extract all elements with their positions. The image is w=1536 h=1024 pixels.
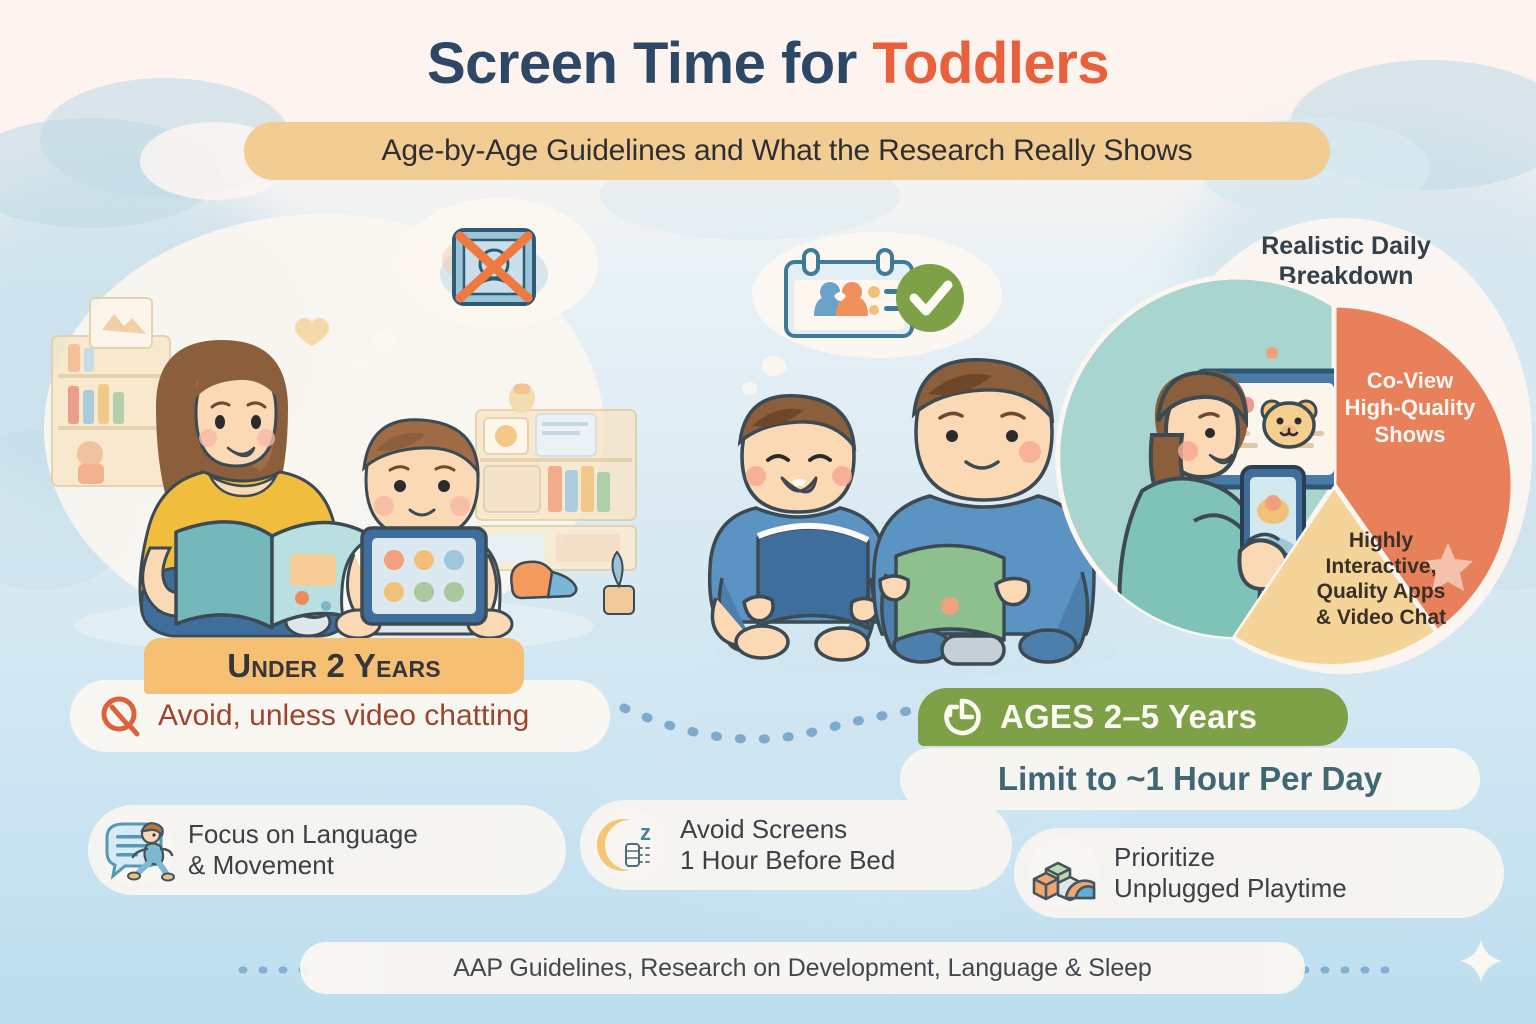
ages25-recommendation-text: Limit to ~1 Hour Per Day — [998, 760, 1382, 798]
tip-text-line: Unplugged Playtime — [1114, 873, 1347, 904]
pie-label-interactive-apps: Highly Interactive, Quality Apps & Video… — [1286, 528, 1476, 630]
page-title: Screen Time for Toddlers — [0, 30, 1536, 97]
tip-text-line: 1 Hour Before Bed — [680, 845, 895, 876]
crossed-out-tablet-icon — [430, 222, 558, 314]
thought-bubble-dot — [352, 358, 368, 372]
speech-bubble-running-child-icon — [102, 814, 174, 886]
pie-label-line: Highly — [1286, 528, 1476, 554]
tip-text-line: Prioritize — [1114, 842, 1347, 873]
pie-label-line: Shows — [1312, 422, 1508, 449]
under2-recommendation-text: Avoid, unless video chatting — [158, 699, 529, 733]
tip-text-line: Focus on Language — [188, 819, 418, 850]
tip-text-line: & Movement — [188, 850, 418, 881]
ages25-badge-label: AGES 2–5 Years — [1000, 698, 1257, 736]
subtitle-banner: Age-by-Age Guidelines and What the Resea… — [244, 122, 1330, 180]
footer-text: AAP Guidelines, Research on Development,… — [453, 954, 1151, 983]
pie-label-line: High-Quality — [1312, 395, 1508, 422]
tip-card-bedtime-screens: z Avoid Screens 1 Hour Before Bed — [580, 800, 1012, 890]
clock-timer-icon — [940, 695, 984, 739]
pie-label-line: Quality Apps — [1286, 579, 1476, 605]
dotted-connector-line — [620, 690, 960, 760]
title-main: Screen Time for — [427, 31, 872, 96]
pie-label-line: & Video Chat — [1286, 605, 1476, 631]
subtitle-text: Age-by-Age Guidelines and What the Resea… — [382, 134, 1193, 168]
pie-label-co-view: Co-View High-Quality Shows Co-View High-… — [1312, 368, 1508, 448]
calendar-checkmark-icon — [778, 248, 974, 348]
pie-title-line1: Realistic Daily — [1186, 232, 1506, 262]
ages25-badge: AGES 2–5 Years — [918, 688, 1348, 746]
tip-text-bedtime-screens: Avoid Screens 1 Hour Before Bed — [680, 814, 895, 876]
thought-bubble-dot — [372, 330, 398, 352]
tip-card-unplugged-playtime: Prioritize Unplugged Playtime — [1014, 828, 1504, 918]
pie-label-line: Co-View — [1312, 368, 1508, 395]
dotted-connector-line-footer-right — [1300, 960, 1390, 980]
no-screen-icon — [96, 693, 142, 739]
svg-text:z: z — [640, 820, 651, 845]
ages25-recommendation-card: Limit to ~1 Hour Per Day — [900, 748, 1480, 810]
title-highlight: Toddlers — [872, 31, 1109, 96]
footer-sources: AAP Guidelines, Research on Development,… — [300, 942, 1305, 994]
toy-blocks-icon — [1028, 837, 1100, 909]
tip-text-unplugged-playtime: Prioritize Unplugged Playtime — [1114, 842, 1347, 904]
tip-card-language-movement: Focus on Language & Movement — [88, 805, 566, 895]
moon-sleep-icon: z — [594, 809, 666, 881]
sparkle-icon — [1458, 938, 1504, 984]
tip-text-line: Avoid Screens — [680, 814, 895, 845]
under2-badge: Under 2 Years — [144, 638, 524, 694]
under2-badge-label: Under 2 Years — [227, 647, 441, 685]
tip-text-language-movement: Focus on Language & Movement — [188, 819, 418, 881]
infographic-canvas: Screen Time for Toddlers Age-by-Age Guid… — [0, 0, 1536, 1024]
dotted-connector-line-footer-left — [238, 960, 308, 980]
pie-label-line: Interactive, — [1286, 554, 1476, 580]
